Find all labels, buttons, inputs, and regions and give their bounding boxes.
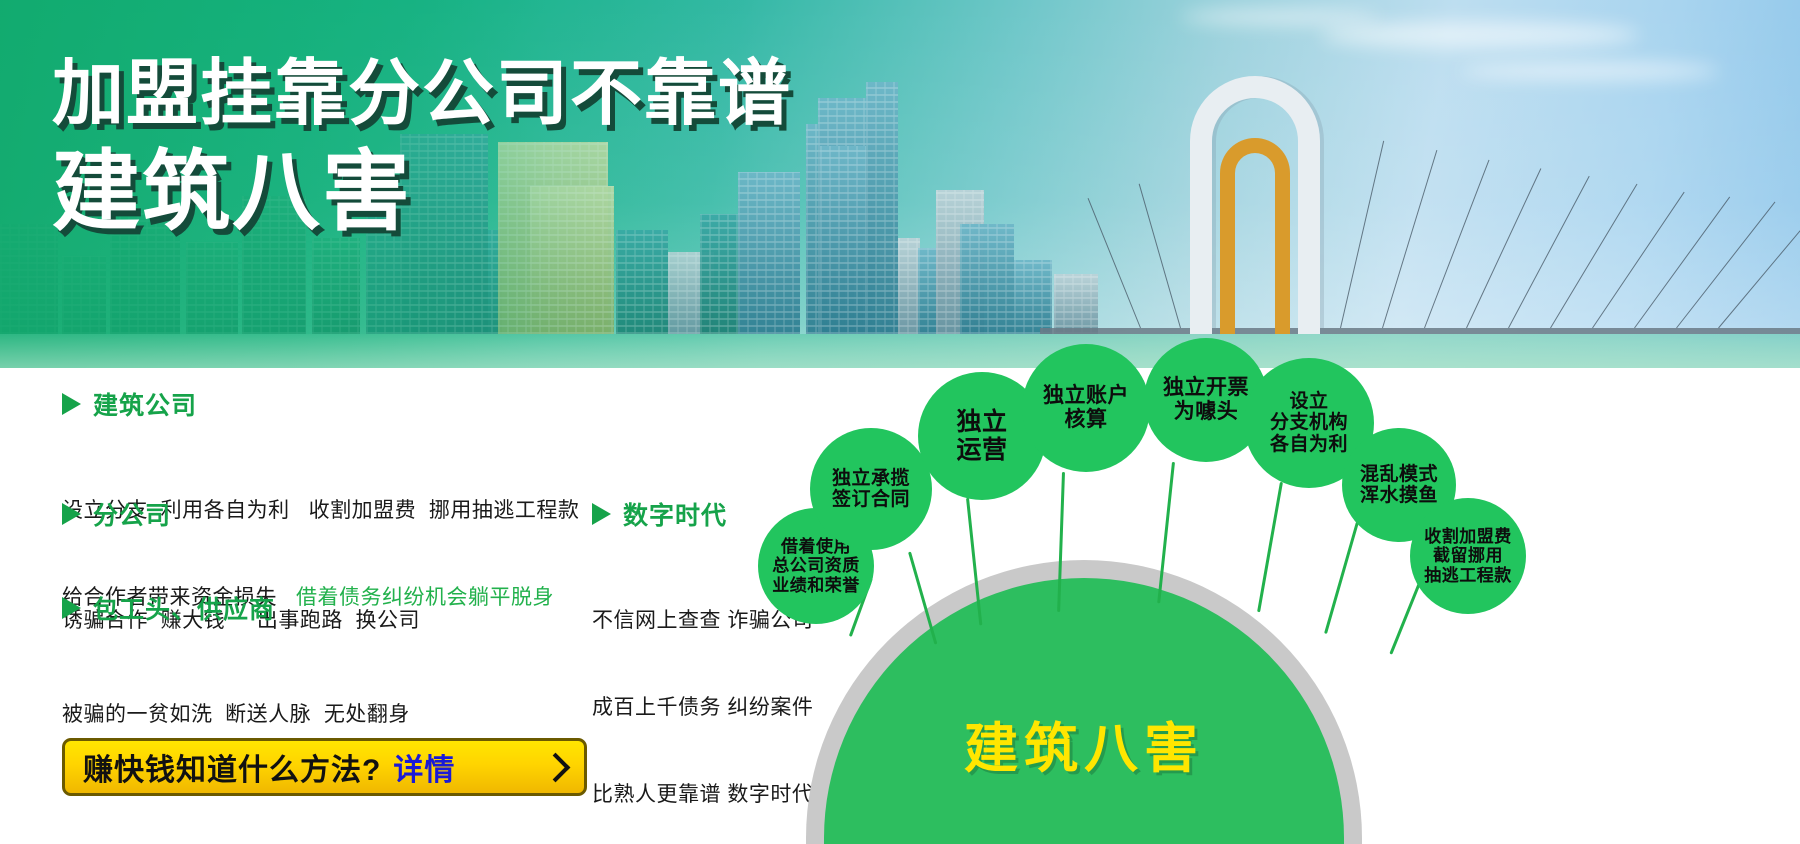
cta-label: 赚快钱知道什么方法? [83, 745, 381, 789]
bubble-line: 核算 [1043, 408, 1129, 432]
bubble-line: 总公司资质 [772, 556, 860, 575]
cloud-wisp [1180, 10, 1380, 24]
hero-title-line-2: 建筑八害 [52, 148, 792, 236]
bubble-line: 独立承揽 [832, 468, 910, 489]
section-title: 建筑公司 [93, 386, 197, 422]
building [1014, 260, 1052, 334]
bubble-line: 业绩和荣誉 [772, 576, 860, 595]
section-heading: 包工头、供应商 [62, 590, 410, 626]
bubble-item[interactable]: 独立承揽 签订合同 [810, 428, 932, 550]
hero-banner: 加盟挂靠分公司不靠谱 建筑八害 [0, 0, 1800, 368]
cloud-wisp [1460, 62, 1720, 80]
building [960, 224, 1014, 334]
bubble-diagram: 建筑八害 借着使用 总公司资质 业绩和荣誉 独立承揽 签订合同 独 [780, 330, 1800, 844]
section-line: 被骗的一贫如洗 断送人脉 无处翻身 [62, 703, 410, 726]
bubble-line: 收割加盟费 [1424, 527, 1512, 546]
dome-center-text: 建筑八害 [964, 704, 1204, 783]
section-title: 包工头、供应商 [93, 590, 275, 626]
bridge-pylon [1190, 76, 1320, 334]
poster-root: 加盟挂靠分公司不靠谱 建筑八害 建筑公司 设立分支 利用各自为利 收割加盟费 挪… [0, 0, 1800, 844]
hero-title-line-1: 加盟挂靠分公司不靠谱 [52, 58, 792, 130]
triangle-right-icon [62, 503, 81, 525]
bubble-line: 浑水摸鱼 [1360, 485, 1438, 506]
triangle-right-icon [592, 503, 611, 525]
bubble-line: 设立 [1270, 391, 1348, 412]
bubble-item[interactable]: 收割加盟费 截留挪用 抽逃工程款 [1410, 498, 1526, 614]
cta-button[interactable]: 赚快钱知道什么方法? 详情 [62, 738, 587, 796]
bubble-line: 独立开票 [1163, 376, 1249, 400]
bubble-line: 抽逃工程款 [1424, 566, 1512, 585]
pylon-arch-inner [1220, 138, 1290, 334]
chevron-right-icon [541, 752, 571, 782]
cta-link-label[interactable]: 详情 [393, 745, 455, 789]
dome-center-label: 建筑八害 [824, 578, 1344, 844]
cloud-wisp [1320, 22, 1640, 48]
bubble-line: 分支机构 [1270, 412, 1348, 433]
section-heading: 建筑公司 [62, 386, 579, 422]
bubble-line: 独立账户 [1043, 384, 1129, 408]
bubble-line: 签订合同 [832, 489, 910, 510]
bubble-line: 运营 [956, 436, 1007, 464]
bubble-stem [1389, 578, 1422, 655]
building [820, 146, 872, 334]
section-title: 数字时代 [623, 496, 727, 532]
bubble-item[interactable]: 独立账户 核算 [1022, 344, 1150, 472]
section-title: 分公司 [93, 496, 171, 532]
triangle-right-icon [62, 393, 81, 415]
triangle-right-icon [62, 597, 81, 619]
bubble-line: 截留挪用 [1424, 546, 1512, 565]
building [866, 82, 898, 334]
hero-title: 加盟挂靠分公司不靠谱 建筑八害 [52, 58, 792, 236]
bubble-line: 混乱模式 [1360, 464, 1438, 485]
building [1054, 274, 1098, 334]
bubble-line: 独立 [956, 408, 1007, 436]
bubble-line: 为噱头 [1163, 400, 1249, 424]
bubble-line: 各自为利 [1270, 434, 1348, 455]
section-heading: 分公司 [62, 496, 420, 532]
